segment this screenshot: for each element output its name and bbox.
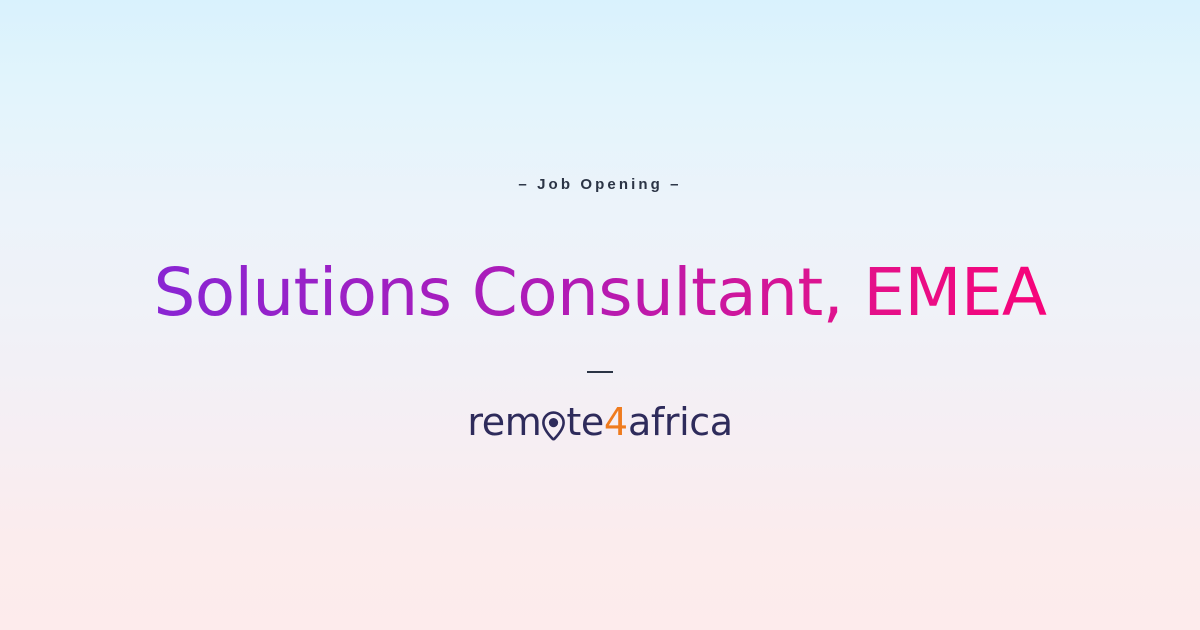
location-pin-icon bbox=[542, 411, 565, 441]
brand-logo: rem te 4 africa bbox=[467, 403, 732, 441]
brand-text-middle: te bbox=[566, 403, 603, 441]
card-content: – Job Opening – Solutions Consultant, EM… bbox=[0, 177, 1200, 441]
page-title: Solutions Consultant, EMEA bbox=[114, 258, 1087, 327]
brand-accent-digit: 4 bbox=[604, 403, 628, 441]
brand-text-suffix: africa bbox=[628, 403, 733, 441]
eyebrow-label: – Job Opening – bbox=[518, 177, 681, 192]
brand-text-prefix: rem bbox=[467, 403, 541, 441]
job-opening-social-card: – Job Opening – Solutions Consultant, EM… bbox=[0, 0, 1200, 630]
title-divider bbox=[587, 371, 613, 373]
